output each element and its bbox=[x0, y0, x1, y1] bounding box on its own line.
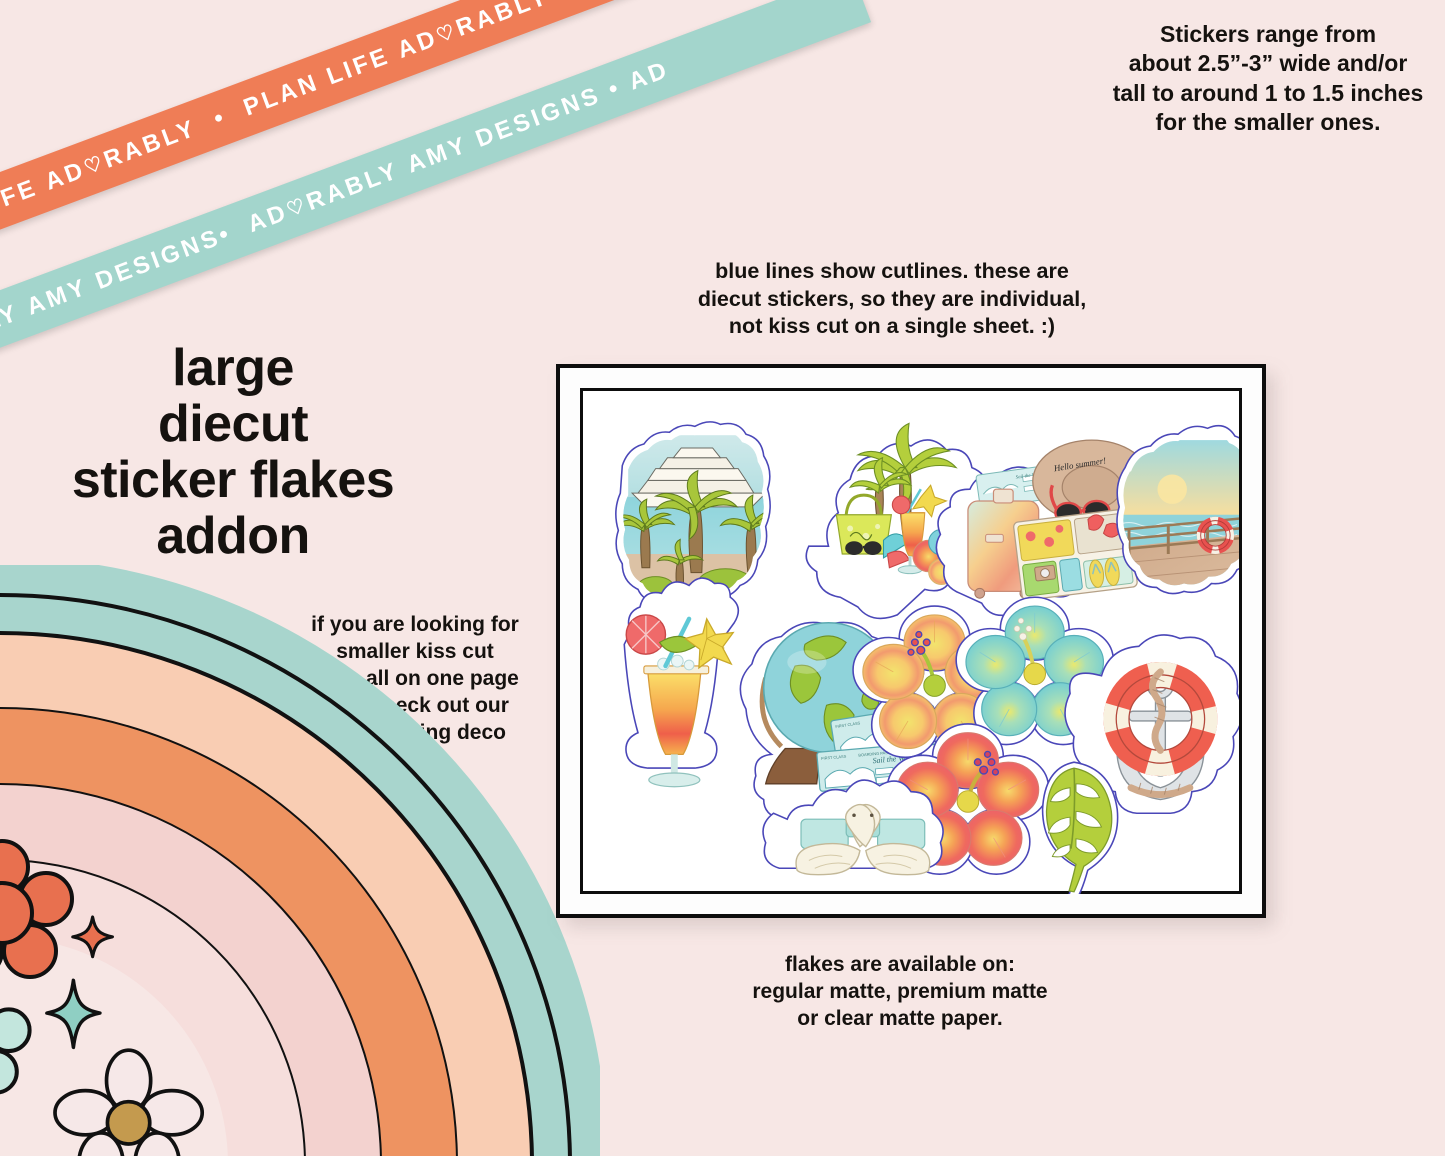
note-cutlines: blue lines show cutlines. these are diec… bbox=[690, 258, 1094, 341]
note-line: regular matte, premium matte bbox=[705, 979, 1095, 1006]
note-line: not kiss cut on a single sheet. :) bbox=[690, 313, 1094, 341]
page-canvas: PLAN LIFE AD♡RABLY • PLAN LIFE AD♡RABLY … bbox=[0, 0, 1445, 1156]
note-line: about 2.5”-3” wide and/or bbox=[1092, 49, 1444, 78]
note-line: flakes are available on: bbox=[705, 952, 1095, 979]
title-line-3: sticker flakes bbox=[18, 452, 448, 508]
sticker-cruise-deck-sunset[interactable] bbox=[1113, 426, 1239, 629]
sticker-sheet-inner-frame: Sail the World bbox=[580, 388, 1242, 894]
note-line: or clear matte paper. bbox=[705, 1006, 1095, 1033]
note-line: tall to around 1 to 1.5 inches bbox=[1092, 79, 1444, 108]
note-line: Stickers range from bbox=[1092, 20, 1444, 49]
note-line: diecut stickers, so they are individual, bbox=[690, 286, 1094, 314]
sticker-tropical-cocktail[interactable] bbox=[624, 578, 738, 787]
note-line: for the smaller ones. bbox=[1092, 108, 1444, 137]
ribbon-secondary-text: AD♡RABLY AMY DESIGNS• AD♡RABLY AMY DESIG… bbox=[0, 56, 674, 381]
rainbow-decoration bbox=[0, 565, 600, 1156]
star-mint-icon bbox=[47, 980, 100, 1047]
page-title: large diecut sticker flakes addon bbox=[18, 340, 448, 565]
title-line-1: large bbox=[18, 340, 448, 396]
note-line: blue lines show cutlines. these are bbox=[690, 258, 1094, 286]
sticker-sheet-canvas: Sail the World bbox=[583, 391, 1239, 894]
note-sticker-sizes: Stickers range from about 2.5”-3” wide a… bbox=[1092, 20, 1444, 138]
title-line-2: diecut bbox=[18, 396, 448, 452]
sticker-sheet-frame: Sail the World bbox=[556, 364, 1266, 918]
daisy-gold-icon bbox=[55, 1050, 202, 1156]
title-line-4: addon bbox=[18, 508, 448, 564]
mint-flower-icon bbox=[0, 984, 30, 1093]
sticker-monstera-leaf[interactable] bbox=[1043, 762, 1118, 894]
note-paper-options: flakes are available on: regular matte, … bbox=[705, 952, 1095, 1033]
